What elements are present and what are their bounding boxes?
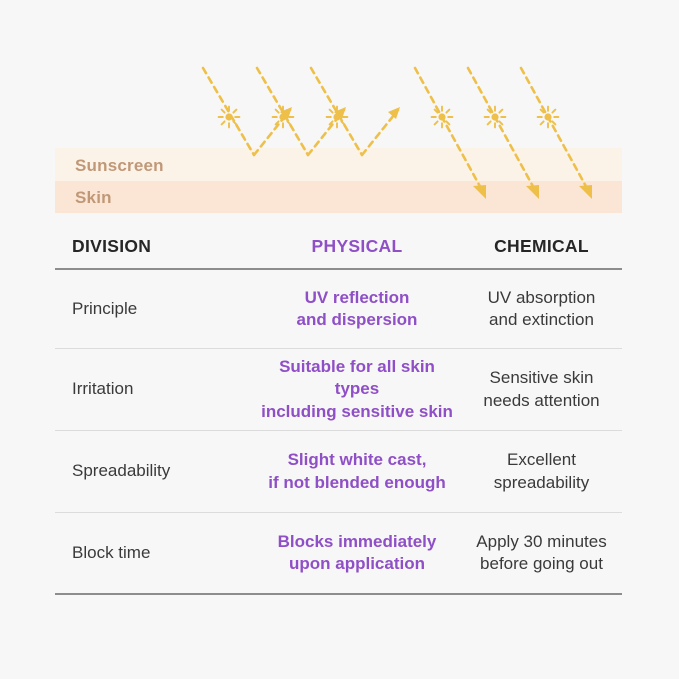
cell-line: spreadability [465, 472, 618, 494]
infographic-root: Sunscreen Skin [0, 0, 679, 679]
cell-physical-spreadability: Slight white cast, if not blended enough [253, 449, 461, 494]
table-row: Principle UV reflection and dispersion U… [55, 270, 622, 349]
cell-physical-block-time: Blocks immediately upon application [253, 531, 461, 576]
column-header-chemical: CHEMICAL [461, 236, 622, 257]
uv-ray-illustration: Sunscreen Skin [0, 0, 679, 225]
sun-icon [219, 107, 240, 128]
table-row: Irritation Suitable for all skin types i… [55, 349, 622, 431]
cell-chemical-spreadability: Excellent spreadability [461, 449, 622, 494]
cell-line: Apply 30 minutes [465, 531, 618, 553]
cell-line: Excellent [465, 449, 618, 471]
sun-icon-group [219, 107, 559, 128]
cell-line: and extinction [465, 309, 618, 331]
cell-line: and dispersion [257, 309, 457, 331]
row-label-irritation: Irritation [55, 378, 253, 401]
table-row: Spreadability Slight white cast, if not … [55, 431, 622, 513]
sun-icon [485, 107, 506, 128]
cell-line: if not blended enough [257, 472, 457, 494]
row-label-principle: Principle [55, 298, 253, 321]
cell-line: Slight white cast, [257, 449, 457, 471]
row-label-block-time: Block time [55, 542, 253, 565]
sun-icon [273, 107, 294, 128]
sun-icon [538, 107, 559, 128]
cell-line: Blocks immediately [257, 531, 457, 553]
uv-rays-svg [0, 0, 679, 225]
cell-line: UV reflection [257, 287, 457, 309]
cell-line: before going out [465, 553, 618, 575]
table-row: Block time Blocks immediately upon appli… [55, 513, 622, 595]
cell-line: upon application [257, 553, 457, 575]
row-label-spreadability: Spreadability [55, 460, 253, 483]
column-header-division: DIVISION [55, 236, 253, 257]
cell-physical-irritation: Suitable for all skin types including se… [253, 356, 461, 423]
cell-line: UV absorption [465, 287, 618, 309]
table-header-row: DIVISION PHYSICAL CHEMICAL [55, 225, 622, 270]
cell-line: Sensitive skin [465, 367, 618, 389]
penetration-arrowheads [473, 185, 592, 199]
cell-line: Suitable for all skin types [257, 356, 457, 401]
cell-chemical-irritation: Sensitive skin needs attention [461, 367, 622, 412]
sun-icon [327, 107, 348, 128]
cell-physical-principle: UV reflection and dispersion [253, 287, 461, 332]
cell-chemical-principle: UV absorption and extinction [461, 287, 622, 332]
column-header-physical: PHYSICAL [253, 236, 461, 257]
cell-line: needs attention [465, 390, 618, 412]
sun-icon [432, 107, 453, 128]
comparison-table: DIVISION PHYSICAL CHEMICAL Principle UV … [55, 225, 622, 595]
cell-line: including sensitive skin [257, 401, 457, 423]
cell-chemical-block-time: Apply 30 minutes before going out [461, 531, 622, 576]
